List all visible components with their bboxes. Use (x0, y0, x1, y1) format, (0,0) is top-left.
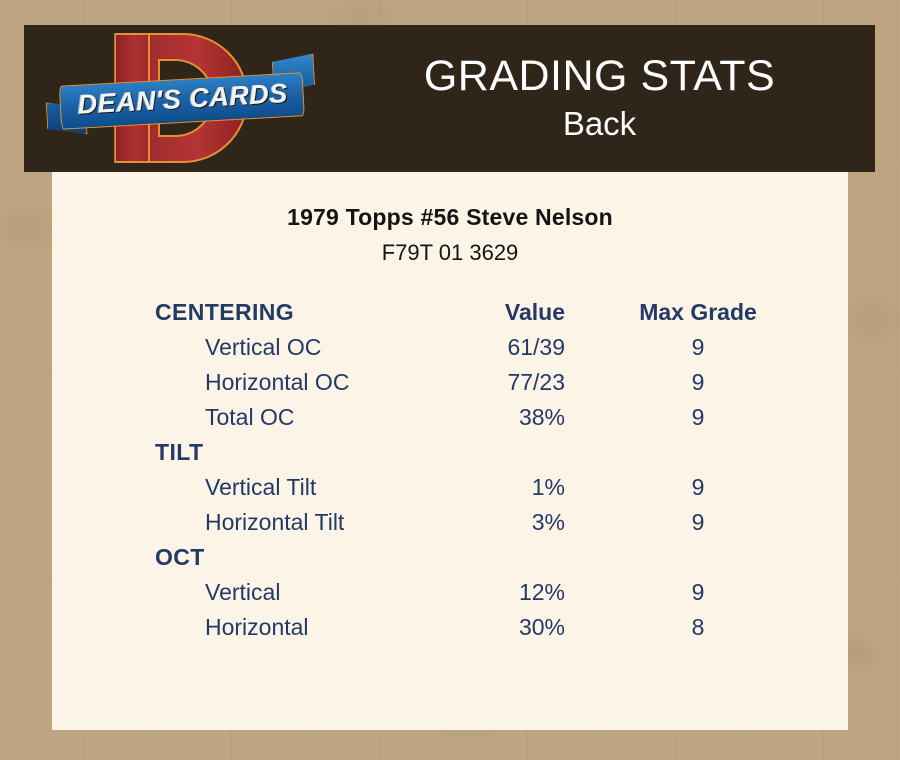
row-label: Horizontal OC (52, 365, 432, 400)
table-row: Horizontal OC77/239 (52, 365, 848, 400)
stats-table-head: CENTERING Value Max Grade (52, 295, 848, 330)
row-label: Vertical Tilt (52, 470, 432, 505)
table-row: Horizontal30%8 (52, 610, 848, 645)
row-value: 77/23 (432, 365, 612, 400)
row-label: Total OC (52, 400, 432, 435)
card-serial-number: F79T 01 3629 (52, 240, 848, 266)
row-label: Vertical OC (52, 330, 432, 365)
row-label: Horizontal (52, 610, 432, 645)
page-title: GRADING STATS (424, 54, 775, 99)
row-max-grade: 9 (612, 330, 848, 365)
row-value: 3% (432, 505, 612, 540)
header-bar: DEAN'S CARDS GRADING STATS Back (24, 25, 875, 172)
section-value-spacer (432, 540, 612, 575)
column-header-value: Value (432, 295, 612, 330)
table-row: Vertical Tilt1%9 (52, 470, 848, 505)
section-value-spacer (432, 435, 612, 470)
table-row: Vertical OC61/399 (52, 330, 848, 365)
section-header-row: OCT (52, 540, 848, 575)
section-grade-spacer (612, 540, 848, 575)
row-value: 12% (432, 575, 612, 610)
card-title: 1979 Topps #56 Steve Nelson (52, 204, 848, 231)
row-max-grade: 9 (612, 470, 848, 505)
row-max-grade: 9 (612, 400, 848, 435)
row-max-grade: 9 (612, 575, 848, 610)
row-max-grade: 9 (612, 365, 848, 400)
content-panel: 1979 Topps #56 Steve Nelson F79T 01 3629… (52, 172, 848, 730)
section-header-row: TILT (52, 435, 848, 470)
header-title-block: GRADING STATS Back (324, 25, 875, 172)
table-row: Total OC38%9 (52, 400, 848, 435)
column-header-max-grade: Max Grade (612, 295, 848, 330)
table-header-row: CENTERING Value Max Grade (52, 295, 848, 330)
section-label: TILT (52, 435, 432, 470)
section-grade-spacer (612, 435, 848, 470)
row-value: 61/39 (432, 330, 612, 365)
page-subtitle: Back (563, 104, 636, 144)
table-row: Vertical12%9 (52, 575, 848, 610)
row-label: Vertical (52, 575, 432, 610)
row-value: 1% (432, 470, 612, 505)
section-label: OCT (52, 540, 432, 575)
row-value: 30% (432, 610, 612, 645)
grading-stats-table: CENTERING Value Max Grade Vertical OC61/… (52, 295, 848, 645)
deans-cards-logo[interactable]: DEAN'S CARDS (46, 31, 316, 167)
column-header-centering: CENTERING (52, 295, 432, 330)
stats-table-body: Vertical OC61/399Horizontal OC77/239Tota… (52, 330, 848, 645)
row-max-grade: 8 (612, 610, 848, 645)
row-value: 38% (432, 400, 612, 435)
row-max-grade: 9 (612, 505, 848, 540)
logo-ribbon-banner: DEAN'S CARDS (45, 68, 318, 141)
table-row: Horizontal Tilt3%9 (52, 505, 848, 540)
row-label: Horizontal Tilt (52, 505, 432, 540)
grading-stats-page: DEAN'S CARDS GRADING STATS Back 1979 Top… (0, 0, 900, 760)
